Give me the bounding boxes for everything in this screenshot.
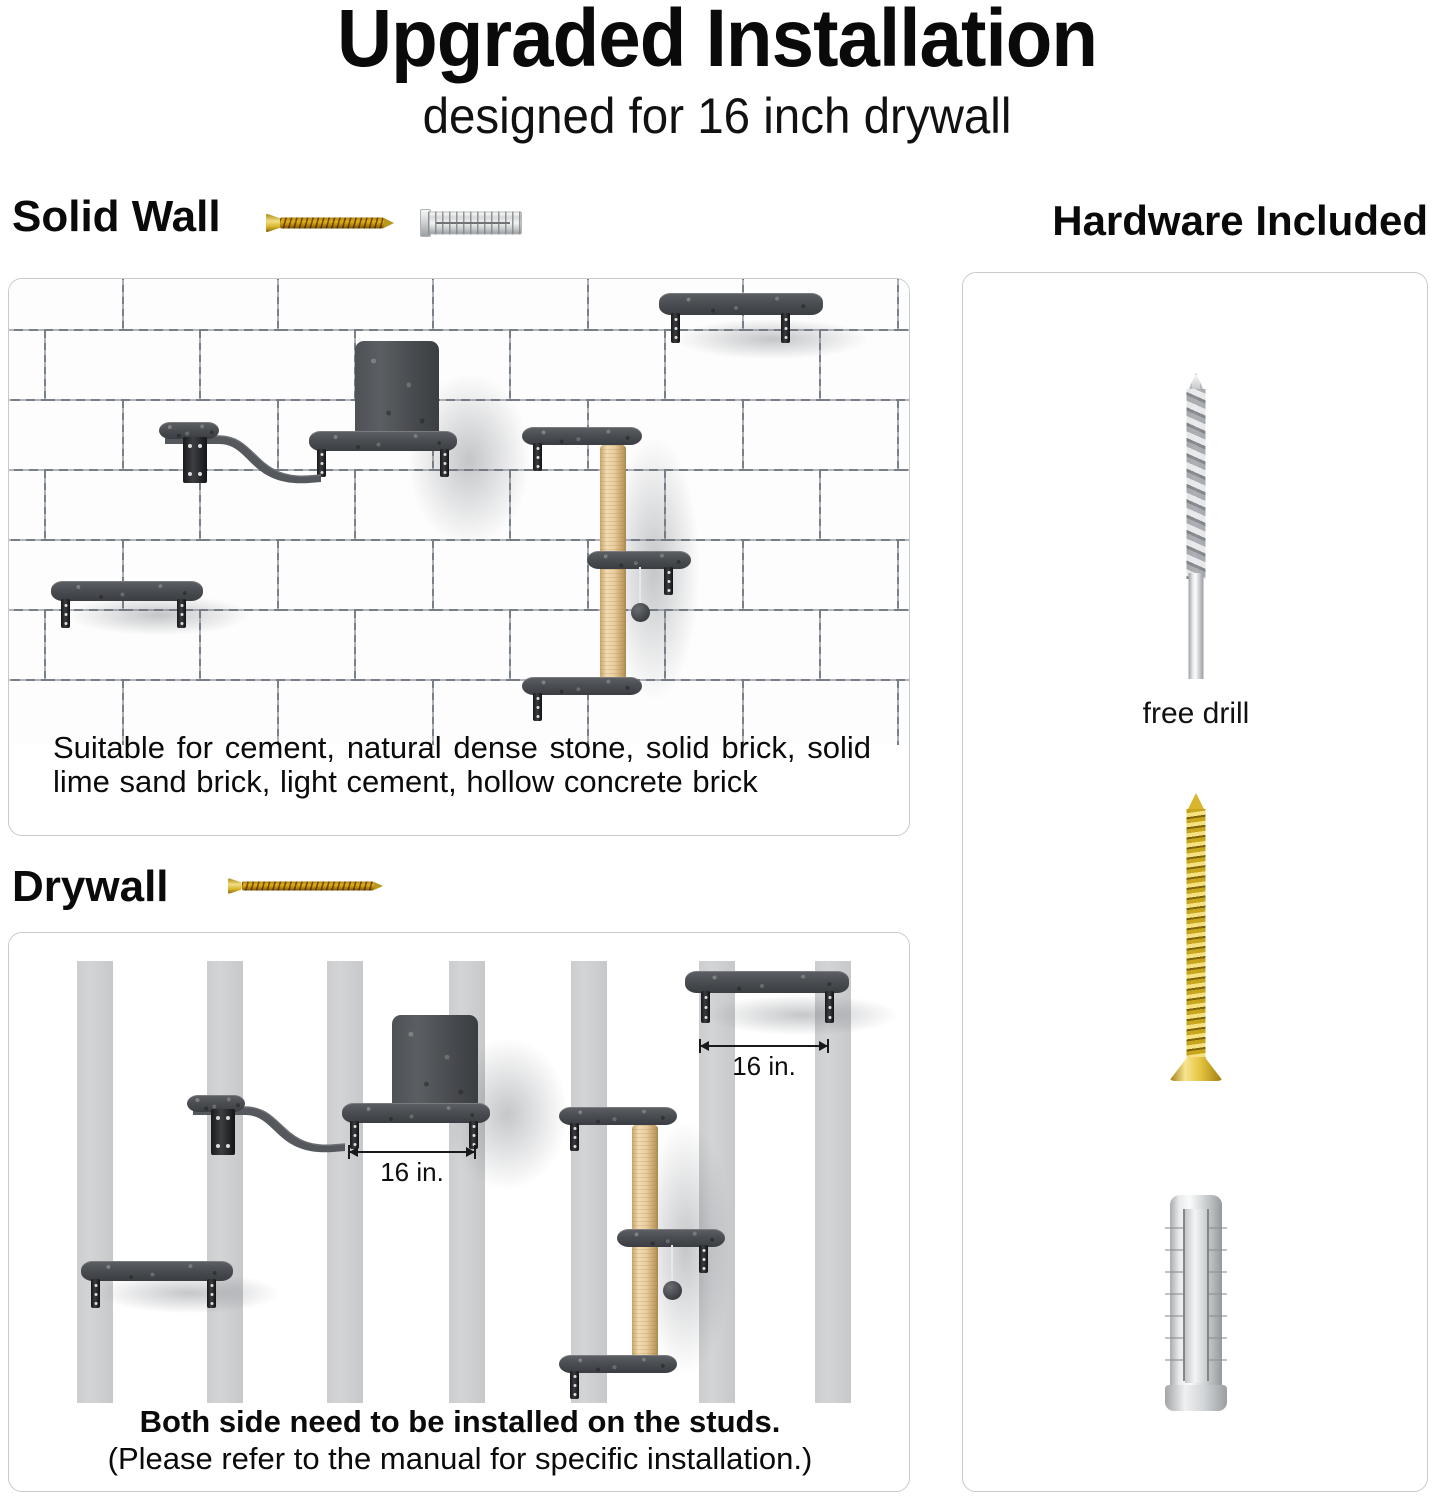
dimension-line-top — [699, 1045, 829, 1047]
carpet-surface — [81, 1261, 233, 1281]
solid-wall-panel: Suitable for cement, natural dense stone… — [8, 278, 910, 836]
shelf-bracket — [664, 567, 673, 595]
section-heading-solid-wall: Solid Wall — [12, 192, 221, 242]
carpet-surface — [51, 581, 203, 601]
drywall-panel: 16 in. 16 in. — [8, 932, 910, 1492]
drywall-caption-bold: Both side need to be installed on the st… — [25, 1403, 895, 1440]
toy-string — [671, 1245, 673, 1283]
shelf-bracket — [533, 693, 542, 721]
cat-house — [392, 1015, 478, 1111]
wall-shelf-lower-left — [81, 1261, 233, 1281]
section-heading-hardware: Hardware Included — [1052, 196, 1428, 246]
shelf-bracket — [61, 599, 70, 628]
dimension-label-top: 16 in. — [699, 1051, 829, 1082]
screw-icon — [266, 211, 394, 235]
dimension-line-middle — [348, 1151, 476, 1153]
hanging-ball-toy — [631, 603, 650, 622]
hanging-ball-toy — [663, 1281, 682, 1300]
wall-stud — [571, 961, 607, 1403]
section-heading-drywall: Drywall — [12, 862, 169, 912]
hardware-item-anchor — [963, 1195, 1428, 1435]
carpet-surface — [342, 1103, 490, 1123]
ramp-mount-plate — [211, 1109, 235, 1155]
installation-infographic: Upgraded Installation designed for 16 in… — [0, 0, 1434, 1500]
wall-stud — [815, 961, 851, 1403]
hardware-item-screw — [963, 793, 1428, 1093]
screw-icon — [228, 876, 383, 896]
screw-icon — [1166, 793, 1226, 1085]
wall-stud — [207, 961, 243, 1403]
shelf-bracket — [533, 443, 542, 471]
shelf-bracket — [177, 599, 186, 628]
carpet-surface — [659, 293, 823, 315]
solid-wall-hardware-icons — [266, 208, 524, 238]
dimension-label-middle: 16 in. — [348, 1157, 476, 1188]
wall-ledge-under-house — [342, 1103, 490, 1123]
cat-house — [355, 341, 439, 441]
wall-shelf-top-right — [659, 293, 823, 315]
shelf-bracket — [207, 1279, 216, 1308]
shelf-bracket — [570, 1123, 579, 1151]
wall-shelf-lower-left — [51, 581, 203, 601]
carpet-surface — [309, 431, 457, 451]
shelf-bracket — [91, 1279, 100, 1308]
wall-anchor-icon — [1161, 1195, 1231, 1415]
wall-stud — [699, 961, 735, 1403]
wall-stud — [77, 961, 113, 1403]
carpet-surface — [685, 971, 849, 993]
drill-bit-icon — [1176, 369, 1216, 679]
drywall-hardware-icons — [228, 876, 383, 896]
toy-string — [639, 567, 641, 605]
shelf-bracket — [701, 991, 710, 1023]
shelf-bracket — [440, 449, 449, 477]
stud-wall-illustration: 16 in. 16 in. — [9, 933, 909, 1403]
shelf-bracket — [825, 991, 834, 1023]
shelf-bracket — [699, 1245, 708, 1273]
shelf-shadow — [707, 995, 897, 1035]
hardware-panel: free drill — [962, 272, 1428, 1492]
page-title: Upgraded Installation — [50, 0, 1384, 82]
hardware-label-drill: free drill — [963, 697, 1428, 731]
ramp-mount-plate — [183, 437, 207, 483]
page-subtitle: designed for 16 inch drywall — [36, 88, 1398, 144]
wall-anchor-icon — [420, 208, 524, 238]
wall-shelf-top-right — [685, 971, 849, 993]
wall-ledge-under-house — [309, 431, 457, 451]
drywall-caption: Both side need to be installed on the st… — [25, 1403, 895, 1477]
drywall-caption-note: (Please refer to the manual for specific… — [25, 1440, 895, 1477]
shelf-bracket — [671, 313, 680, 343]
brick-wall-illustration — [9, 279, 909, 745]
solid-wall-caption: Suitable for cement, natural dense stone… — [53, 731, 871, 799]
sisal-scratching-post — [632, 1125, 658, 1371]
shelf-bracket — [570, 1371, 579, 1399]
hardware-item-drill: free drill — [963, 369, 1428, 729]
shelf-bracket — [781, 313, 790, 343]
